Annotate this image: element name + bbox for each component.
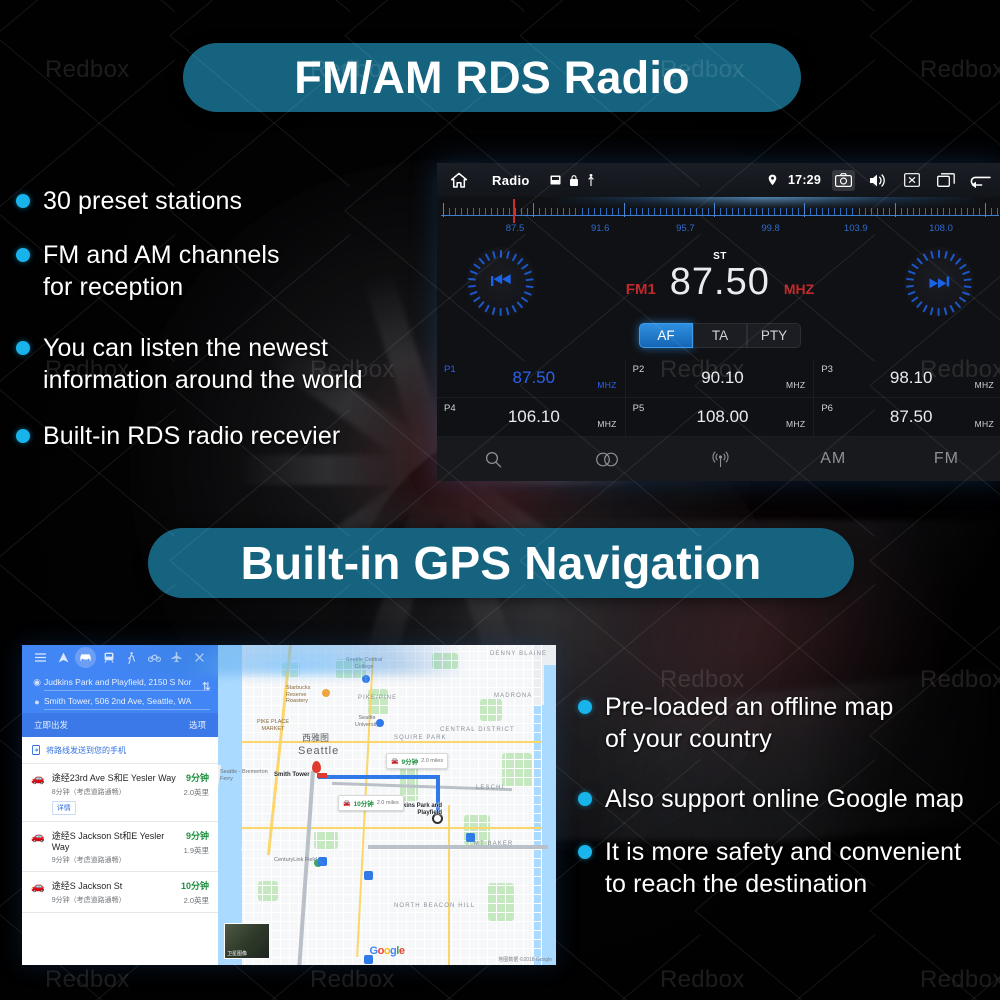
scale-tick	[732, 208, 733, 215]
knob-tick	[938, 308, 940, 316]
next-track-icon: ⏭	[928, 270, 950, 294]
major-road	[242, 827, 542, 829]
scale-tick	[557, 208, 558, 215]
district-label: MT BAKER	[474, 841, 513, 847]
district-label: NORTH BEACON HILL	[394, 903, 475, 909]
lake-washington	[544, 665, 556, 725]
preset-p4[interactable]: P4106.10MHZ	[437, 398, 626, 437]
scale-tick	[973, 208, 974, 215]
send-to-phone-label[interactable]: 将路线发送到您的手机	[46, 745, 126, 756]
knob-tick	[964, 278, 972, 281]
street	[242, 912, 542, 913]
scale-tick	[467, 208, 468, 215]
transit-icon[interactable]	[97, 652, 120, 663]
district-label: SQUIRE PARK	[394, 735, 447, 741]
poi-label: PIKE PLACE MARKET	[256, 719, 290, 732]
knob-tick	[500, 308, 502, 316]
street	[242, 750, 542, 751]
scale-tick	[774, 208, 775, 215]
route-title: 途经S Jackson St	[52, 879, 174, 892]
city-label: Seattle	[298, 745, 339, 757]
scale-tick	[979, 208, 980, 215]
knob-tick	[470, 271, 478, 275]
status-bar-actions: 17:29	[768, 170, 1000, 191]
list-item-label: Also support online Google map	[605, 784, 964, 816]
scale-tick	[750, 208, 751, 215]
scale-tick	[852, 208, 853, 215]
home-icon[interactable]	[448, 169, 470, 191]
scale-tick	[744, 208, 745, 215]
knob-tick	[955, 301, 961, 308]
gps-feature-list: Pre-loaded an offline mapof your country…	[578, 692, 996, 915]
am-band-button[interactable]: AM	[777, 450, 890, 468]
knob-tick	[923, 305, 928, 313]
scale-tick	[846, 208, 847, 215]
send-to-phone-icon	[32, 745, 40, 755]
knob-tick	[521, 297, 528, 303]
scale-tick	[479, 208, 480, 215]
navigate-icon[interactable]	[52, 652, 75, 663]
street	[242, 957, 542, 958]
knob-tick	[944, 251, 947, 259]
route-callout[interactable]: 🚘 10分钟 2.0 miles	[338, 795, 404, 811]
scale-tick	[961, 208, 962, 215]
route-duration: 9分钟	[184, 771, 209, 784]
list-item: Also support online Google map	[578, 784, 996, 816]
route-title: 途经S Jackson St和E Yesler Way	[52, 829, 177, 852]
preset-p2[interactable]: P290.10MHZ	[626, 359, 815, 398]
knob-tick	[930, 251, 933, 259]
street	[242, 903, 542, 904]
origin-map-label: Smith Tower	[274, 772, 310, 778]
knob-tick	[492, 307, 495, 315]
city-label-cn: 西雅图	[302, 731, 329, 744]
preset-grid[interactable]: P187.50MHZP290.10MHZP398.10MHZP4106.10MH…	[437, 359, 1000, 437]
scale-tick	[865, 208, 866, 215]
map-marker[interactable]	[376, 719, 384, 727]
district-label: LESCHI	[476, 785, 504, 791]
street	[242, 705, 542, 706]
scale-tick	[943, 208, 944, 215]
car-icon: 🚗	[31, 830, 45, 865]
knob-tick	[506, 307, 509, 315]
route-path	[318, 775, 440, 779]
route-option[interactable]: 🚗途经23rd Ave S和E Yesler Way8分钟（考虑道路通畅）详情9…	[22, 764, 218, 822]
preset-p6[interactable]: P687.50MHZ	[814, 398, 1000, 437]
preset-slot: P5	[633, 403, 645, 414]
scale-tick	[985, 203, 986, 217]
list-item: FM and AM channelsfor reception	[16, 240, 431, 304]
scale-tick	[955, 208, 956, 215]
scale-tick	[588, 208, 589, 215]
knob-tick	[964, 285, 972, 288]
knob-tick	[468, 285, 476, 288]
scale-tick	[720, 208, 721, 215]
scale-tick	[895, 203, 896, 217]
fm-band-button[interactable]: FM	[890, 450, 1000, 468]
antenna-icon	[712, 451, 729, 468]
volume-icon[interactable]	[866, 170, 889, 191]
scale-tick	[527, 208, 528, 215]
knob-tick	[906, 278, 914, 281]
route-duration: 10分钟	[181, 879, 209, 892]
tuning-scale[interactable]: 87.591.695.799.8103.9108.0	[437, 197, 1000, 243]
scale-tick	[883, 208, 884, 215]
bullet-dot-icon	[16, 194, 30, 208]
knob-tick	[908, 291, 916, 295]
street	[242, 831, 542, 832]
search-icon	[485, 451, 502, 468]
preset-unit: MHZ	[786, 419, 805, 429]
car-icon[interactable]	[75, 653, 98, 662]
knob-tick	[923, 253, 928, 261]
route-option[interactable]: 🚗途经S Jackson St和E Yesler Way9分钟（考虑道路通畅）9…	[22, 822, 218, 872]
knob-tick	[524, 271, 532, 275]
status-indicators	[550, 174, 595, 186]
scale-tick	[967, 208, 968, 215]
scale-tick	[515, 208, 516, 215]
scale-tick	[919, 208, 920, 215]
preset-p3[interactable]: P398.10MHZ	[814, 359, 1000, 398]
gps-screen[interactable]: ◉ Judkins Park and Playfield, 2150 S Nor…	[22, 645, 556, 965]
scale-tick	[925, 208, 926, 215]
route-duration: 9分钟	[184, 829, 209, 842]
scale-tick	[889, 208, 890, 215]
scale-label: 99.8	[761, 223, 780, 234]
knob-tick	[917, 258, 923, 265]
lock-icon	[570, 175, 578, 186]
knob-tick	[506, 251, 509, 259]
scale-tick	[533, 203, 534, 217]
promo-image: FM/AM RDS Radio Built-in GPS Navigation …	[0, 0, 1000, 1000]
map-marker[interactable]	[362, 675, 370, 683]
route-options-list[interactable]: 🚗途经23rd Ave S和E Yesler Way8分钟（考虑道路通畅）详情9…	[22, 764, 218, 913]
knob-tick	[500, 250, 502, 258]
route-start-marker	[317, 773, 327, 778]
preset-slot: P3	[821, 364, 833, 375]
scale-tick	[594, 208, 595, 215]
scale-tick	[654, 208, 655, 215]
preset-slot: P6	[821, 403, 833, 414]
knob-tick	[962, 291, 970, 295]
rds-af-button[interactable]: AF	[639, 323, 693, 348]
lake-washington	[532, 705, 556, 965]
gps-screen-glow	[122, 645, 462, 675]
rds-button-group[interactable]: AFTAPTY	[639, 323, 801, 348]
highway	[368, 845, 548, 849]
scale-tick	[582, 208, 583, 215]
scale-tick	[636, 208, 637, 215]
scale-tick	[714, 203, 715, 217]
car-icon: 🚗	[31, 772, 45, 815]
bullet-dot-icon	[578, 700, 592, 714]
scale-tick	[630, 208, 631, 215]
scale-tick	[786, 208, 787, 215]
rds-ta-button[interactable]: TA	[693, 323, 747, 348]
preset-p1[interactable]: P187.50MHZ	[437, 359, 626, 398]
scale-tick	[871, 208, 872, 215]
preset-unit: MHZ	[975, 380, 994, 390]
sd-card-icon	[550, 175, 561, 185]
map-marker[interactable]	[322, 689, 330, 697]
scale-tick	[461, 208, 462, 215]
list-item: It is more safety and convenientto reach…	[578, 837, 996, 901]
list-item-label: Built-in RDS radio recevier	[43, 421, 340, 453]
knob-tick	[479, 258, 485, 265]
preset-slot: P1	[444, 364, 456, 375]
tuner-row: ⏮ ST FM1 87.50 MHZ ⏭	[437, 243, 1000, 321]
knob-tick	[485, 253, 490, 261]
scale-tick	[780, 208, 781, 215]
next-station-knob[interactable]: ⏭	[904, 247, 974, 317]
scale-tick	[708, 208, 709, 215]
scale-tick	[696, 208, 697, 215]
list-item-label: FM and AM channelsfor reception	[43, 240, 280, 304]
scale-tick	[768, 208, 769, 215]
street	[242, 885, 542, 886]
car-icon: 🚘	[391, 758, 398, 765]
scale-tick	[497, 208, 498, 215]
frequency-unit: MHZ	[784, 281, 814, 297]
route-details-link[interactable]: 详情	[52, 801, 76, 815]
knob-tick	[944, 307, 947, 315]
list-item-label: 30 preset stations	[43, 186, 242, 218]
scale-tick	[738, 208, 739, 215]
origin-map-pin[interactable]	[312, 761, 321, 773]
scale-tick	[901, 208, 902, 215]
knob-tick	[908, 271, 916, 275]
scale-tick	[491, 208, 492, 215]
highway-shield	[318, 857, 327, 866]
origin-input[interactable]: Judkins Park and Playfield, 2150 S Nor	[44, 675, 210, 691]
scale-tick	[473, 208, 474, 215]
search-button[interactable]	[437, 451, 550, 468]
route-subtitle: 9分钟（考虑道路通畅）	[52, 855, 177, 865]
scale-tick	[877, 208, 878, 215]
send-to-phone-row[interactable]: 将路线发送到您的手机	[22, 737, 218, 764]
preset-unit: MHZ	[786, 380, 805, 390]
street	[242, 849, 542, 850]
radio-section-banner: FM/AM RDS Radio	[183, 43, 801, 112]
knob-tick	[526, 285, 534, 288]
park	[488, 883, 514, 921]
knob-tick	[959, 297, 966, 303]
knob-tick	[524, 291, 532, 295]
close-box-icon[interactable]	[900, 170, 923, 191]
scale-tick	[937, 208, 938, 215]
directions-panel[interactable]: ◉ Judkins Park and Playfield, 2150 S Nor…	[22, 645, 218, 965]
scale-tick	[834, 208, 835, 215]
scale-label: 87.5	[506, 223, 525, 234]
list-item: You can listen the newestinformation aro…	[16, 333, 431, 397]
rds-pty-button[interactable]: PTY	[747, 323, 801, 348]
scale-tick	[816, 208, 817, 215]
scale-tick	[822, 208, 823, 215]
depart-bar[interactable]: 立即出发 选项	[22, 713, 218, 737]
back-arrow-icon[interactable]	[968, 170, 991, 191]
knob-tick	[917, 301, 923, 308]
scale-tick	[575, 208, 576, 215]
radio-screen[interactable]: Radio 17:29	[437, 163, 1000, 481]
map-attribution: 地图数据 ©2018 Google	[498, 956, 552, 963]
highway-shield	[364, 871, 373, 880]
knob-tick	[911, 297, 918, 303]
list-item-label: You can listen the newestinformation aro…	[43, 333, 363, 397]
street	[242, 714, 542, 715]
route-callout[interactable]: 🚘 9分钟 2.0 miles	[386, 753, 448, 769]
scale-tick	[684, 208, 685, 215]
scale-tick	[949, 208, 950, 215]
list-item-label: It is more safety and convenientto reach…	[605, 837, 961, 901]
scale-tick	[907, 208, 908, 215]
route-subtitle: 8分钟（考虑道路通畅）	[52, 787, 177, 797]
origin-row[interactable]: ◉ Judkins Park and Playfield, 2150 S Nor	[30, 673, 210, 692]
scale-label: 91.6	[591, 223, 610, 234]
knob-tick	[950, 305, 955, 313]
scale-tick	[455, 208, 456, 215]
recent-apps-icon[interactable]	[934, 170, 957, 191]
scale-tick	[563, 208, 564, 215]
scale-tick	[726, 208, 727, 215]
route-subtitle: 9分钟（考虑道路通畅）	[52, 895, 174, 905]
swap-icon[interactable]: ⇅	[202, 680, 211, 693]
scale-tick	[600, 208, 601, 215]
poi-label: CenturyLink Field	[274, 857, 318, 864]
street	[242, 867, 542, 868]
scale-tick	[521, 208, 522, 215]
knob-tick	[517, 258, 523, 265]
knob-tick	[950, 253, 955, 261]
scale-tick	[678, 208, 679, 215]
scale-label: 95.7	[676, 223, 695, 234]
scale-tick	[702, 208, 703, 215]
knob-tick	[517, 301, 523, 308]
scale-tick	[449, 208, 450, 215]
preset-frequency: 87.50	[814, 407, 1000, 427]
car-icon: 🚘	[343, 800, 350, 807]
destination-pin-icon: ●	[30, 697, 44, 707]
satellite-thumbnail[interactable]: 卫星图像	[224, 923, 270, 959]
location-icon	[768, 174, 777, 186]
district-label: PIKE/PINE	[358, 695, 397, 701]
usb-icon	[587, 174, 595, 186]
scale-tick	[642, 208, 643, 215]
major-road	[448, 805, 450, 965]
scale-labels: 87.591.695.799.8103.9108.0	[437, 223, 1000, 239]
knob-tick	[911, 264, 918, 270]
knob-tick	[485, 305, 490, 313]
bullet-dot-icon	[16, 341, 30, 355]
gps-section-banner: Built-in GPS Navigation	[148, 528, 854, 598]
preset-unit: MHZ	[597, 419, 616, 429]
scale-label: 108.0	[929, 223, 953, 234]
origin-dot-icon: ◉	[30, 677, 44, 688]
scale-tick	[810, 208, 811, 215]
stereo-icon	[595, 452, 619, 467]
menu-icon[interactable]	[29, 653, 52, 662]
scale-tick	[913, 208, 914, 215]
scale-tick	[606, 208, 607, 215]
scale-tick	[840, 208, 841, 215]
knob-tick	[962, 271, 970, 275]
radio-feature-list: 30 preset stations FM and AM channelsfor…	[16, 186, 431, 467]
screen-title: Radio	[492, 173, 530, 188]
scale-tick	[443, 203, 444, 217]
depart-label[interactable]: 立即出发	[34, 719, 68, 731]
scale-tick	[612, 208, 613, 215]
scale-tick	[859, 208, 860, 215]
options-label[interactable]: 选项	[189, 719, 206, 731]
knob-tick	[492, 251, 495, 259]
antenna-button[interactable]	[663, 451, 776, 468]
list-item: 30 preset stations	[16, 186, 431, 218]
callout-time: 9分钟	[401, 756, 418, 766]
scale-tick	[485, 208, 486, 215]
scale-tick	[545, 208, 546, 215]
clock: 17:29	[788, 173, 821, 187]
prev-station-knob[interactable]: ⏮	[466, 247, 536, 317]
street	[242, 876, 542, 877]
scale-tick	[756, 208, 757, 215]
tuning-pointer	[513, 199, 515, 223]
preset-p5[interactable]: P5108.00MHZ	[626, 398, 815, 437]
knob-tick	[470, 291, 478, 295]
route-distance: 2.0英里	[181, 895, 209, 906]
knob-tick	[526, 278, 534, 281]
satellite-label: 卫星图像	[227, 950, 247, 957]
bullet-dot-icon	[16, 429, 30, 443]
scale-tick	[690, 208, 691, 215]
knob-tick	[930, 307, 933, 315]
knob-tick	[521, 264, 528, 270]
list-item: Built-in RDS radio recevier	[16, 421, 431, 453]
scale-tick	[792, 208, 793, 215]
status-bar: Radio 17:29	[437, 163, 1000, 197]
radio-bottom-bar[interactable]: AM FM	[437, 437, 1000, 481]
scale-line	[441, 215, 999, 216]
scale-tick	[503, 208, 504, 215]
preset-slot: P4	[444, 403, 456, 414]
route-title: 途经23rd Ave S和E Yesler Way	[52, 771, 177, 784]
street	[242, 930, 542, 931]
destination-row[interactable]: ● Smith Tower, 506 2nd Ave, Seattle, WA	[30, 692, 210, 711]
knob-tick	[468, 278, 476, 281]
district-label: CENTRAL DISTRICT	[440, 727, 515, 733]
route-option[interactable]: 🚗途经S Jackson St9分钟（考虑道路通畅）10分钟2.0英里	[22, 872, 218, 913]
map-view[interactable]: Smith Tower Judkins Park and Playfield 🚘…	[218, 645, 556, 965]
bullet-dot-icon	[578, 845, 592, 859]
list-item-label: Pre-loaded an offline mapof your country	[605, 692, 893, 756]
camera-icon[interactable]	[832, 170, 855, 191]
scale-tick	[804, 203, 805, 217]
scale-tick	[931, 208, 932, 215]
knob-tick	[959, 264, 966, 270]
destination-input[interactable]: Smith Tower, 506 2nd Ave, Seattle, WA	[44, 694, 210, 710]
knob-tick	[473, 297, 480, 303]
stereo-button[interactable]	[550, 452, 663, 467]
preset-unit: MHZ	[975, 419, 994, 429]
park	[258, 881, 278, 901]
prev-track-icon: ⏮	[490, 270, 512, 294]
scale-tick	[672, 208, 673, 215]
scale-label: 103.9	[844, 223, 868, 234]
google-logo: Google	[370, 945, 405, 957]
band-label: FM1	[626, 281, 656, 298]
car-icon: 🚗	[31, 880, 45, 906]
district-label: MADRONA	[494, 693, 532, 699]
street	[242, 822, 542, 823]
knob-tick	[512, 253, 517, 261]
